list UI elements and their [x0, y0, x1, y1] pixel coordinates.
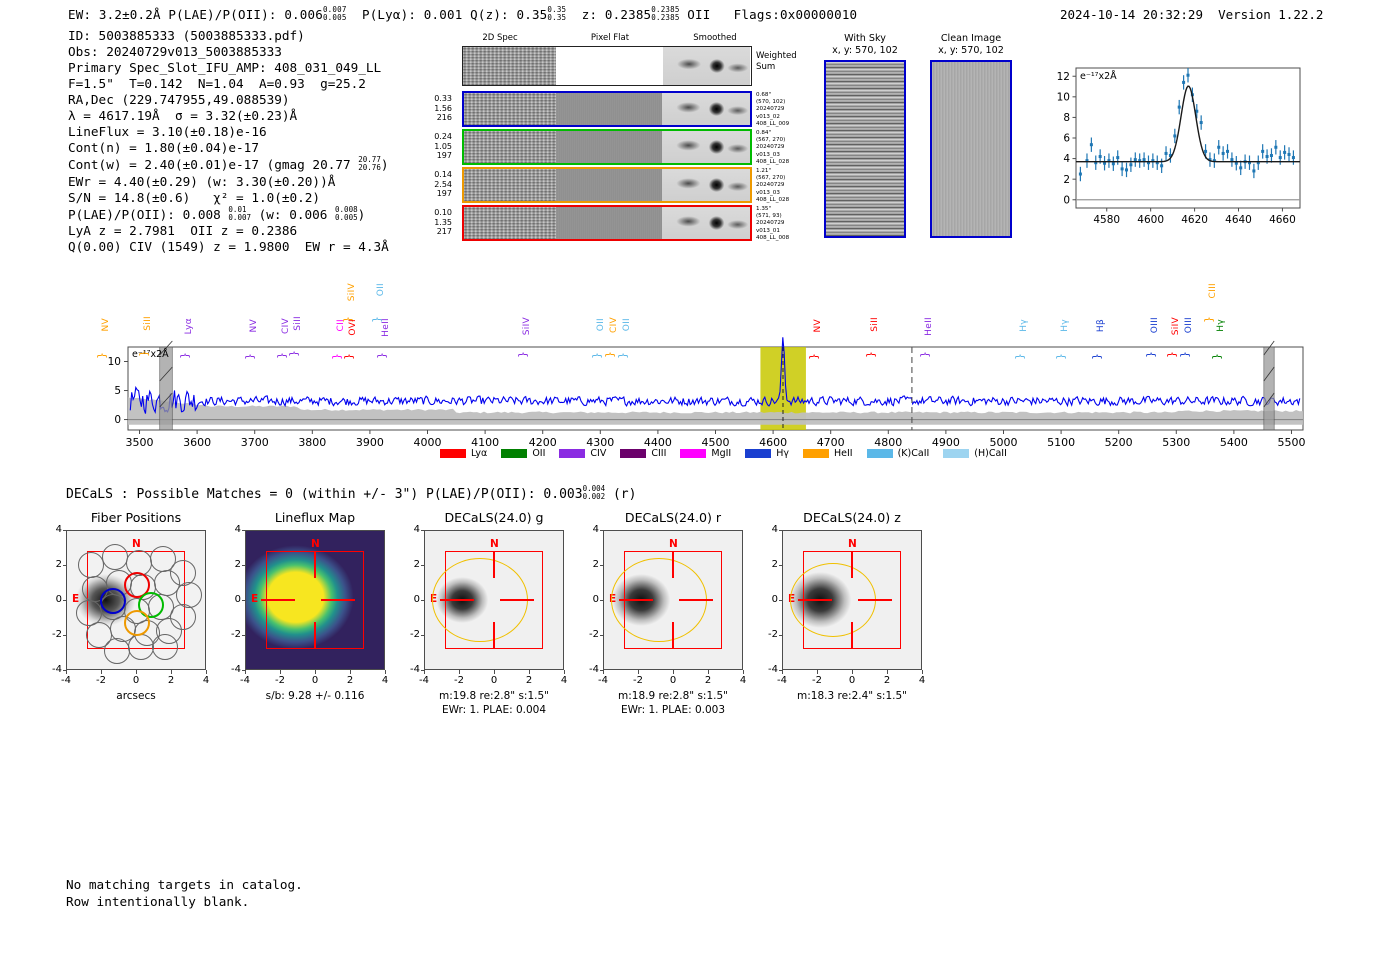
legend-item: CIV — [559, 448, 606, 459]
emission-line-brace: { — [96, 352, 109, 359]
legend-label: (K)CaII — [898, 448, 930, 459]
emission-line-brace: { — [288, 350, 301, 357]
info-cont-w: Cont(w) = 2.40(±0.01)e-17 (gmag 20.77 20… — [68, 156, 389, 173]
y-tick-label: -4 — [219, 664, 241, 675]
emission-line-brace: { — [1179, 351, 1192, 358]
fiber-meta-line: 408_LL_028 — [756, 197, 826, 204]
x-tick — [852, 670, 853, 674]
crosshair — [798, 599, 832, 601]
spec2d-montage: 2D Spec Pixel Flat Smoothed Weighted Sum… — [420, 33, 780, 248]
fiber-values: 0.101.35217 — [410, 208, 452, 237]
y-tick — [242, 600, 246, 601]
fiber-meta: 1.35"(571, 93)20240729v013_01408_LL_008 — [756, 206, 826, 242]
y-tick — [63, 670, 67, 671]
fiber-value: 197 — [410, 189, 452, 199]
fiber-pixelflat — [556, 207, 662, 239]
emission-line-label: CIV — [281, 318, 291, 334]
header-ew-plae: EW: 3.2±0.2Å P(LAE)/P(OII): 0.006 — [68, 7, 323, 22]
svg-text:3700: 3700 — [241, 436, 269, 449]
y-tick — [779, 530, 783, 531]
legend-item: Hγ — [745, 448, 789, 459]
decals-panel-caption-2: EWr: 1. PLAE: 0.004 — [392, 704, 596, 717]
decals-panel-caption: m:18.3 re:2.4" s:1.5" — [750, 690, 954, 703]
fiber-meta-line: v013_01 — [756, 228, 826, 235]
fiber-meta-line: v013_02 — [756, 114, 826, 121]
plae-n-bounds: 0.010.007 — [228, 206, 251, 222]
legend-label: HeII — [834, 448, 853, 459]
x-tick-label: 4 — [373, 675, 397, 686]
fiber-values: 0.331.56216 — [410, 94, 452, 123]
y-tick — [242, 670, 246, 671]
svg-text:5500: 5500 — [1277, 436, 1305, 449]
legend-item: (H)CaII — [943, 448, 1007, 459]
y-tick-label: 2 — [577, 559, 599, 570]
fiber-meta-line: 20240729 — [756, 182, 826, 189]
legend-swatch — [867, 449, 893, 458]
crosshair — [858, 599, 892, 601]
full-spectrum-chart: 0510350036003700380039004000410042004300… — [0, 276, 1400, 471]
x-tick-label: 2 — [338, 675, 362, 686]
info-sn-chi2: S/N = 14.8(±0.6) χ² = 1.0(±0.2) — [68, 190, 389, 206]
legend-label: CIV — [590, 448, 606, 459]
x-tick — [603, 670, 604, 674]
compass-north: N — [848, 538, 857, 550]
svg-text:0: 0 — [114, 414, 121, 426]
crosshair — [672, 622, 674, 648]
svg-text:5100: 5100 — [1047, 436, 1075, 449]
y-tick — [779, 635, 783, 636]
fiber-value: 1.35 — [410, 218, 452, 228]
emission-line-brace: { — [1211, 353, 1224, 360]
strip-2dspec-weighted — [463, 47, 556, 85]
info-cont-n: Cont(n) = 1.80(±0.04)e-17 — [68, 140, 389, 156]
emission-line-brace: { — [1166, 351, 1179, 358]
x-tick-label: -4 — [591, 675, 615, 686]
highlighted-fiber-circle[interactable] — [100, 588, 126, 614]
legend-label: (H)CaII — [974, 448, 1007, 459]
fiber-circle[interactable] — [104, 638, 130, 664]
fiber-value: 1.56 — [410, 104, 452, 114]
emission-line-label: OII — [376, 283, 386, 296]
y-tick — [63, 530, 67, 531]
header-flags: Flags:0x00000010 — [734, 7, 858, 22]
weighted-sum-label: Weighted Sum — [756, 51, 797, 72]
decals-heading: DECaLS : Possible Matches = 0 (within +/… — [66, 485, 636, 502]
svg-text:5: 5 — [114, 385, 121, 397]
emission-line-brace: { — [343, 353, 356, 360]
info-primary-spec: Primary Spec_Slot_IFU_AMP: 408_031_049_L… — [68, 60, 389, 76]
spectrum-legend: LyαOIICIVCIIIMgIIHγHeII(K)CaII(H)CaII — [440, 443, 1021, 462]
fiber-value: 0.33 — [410, 94, 452, 104]
x-tick-label: -4 — [54, 675, 78, 686]
qz-bounds: 0.350.35 — [547, 6, 566, 22]
y-tick — [600, 670, 604, 671]
legend-item: (K)CaII — [867, 448, 930, 459]
y-tick-label: -2 — [40, 629, 62, 640]
fiber-pixelflat — [556, 131, 662, 163]
legend-label: MgII — [711, 448, 731, 459]
y-tick — [63, 635, 67, 636]
thumb-0-coords: x, y: 570, 102 — [832, 45, 898, 56]
legend-item: HeII — [803, 448, 853, 459]
fiber-2dspec — [464, 207, 556, 239]
z-bounds: 0.23850.2385 — [651, 6, 679, 22]
emission-line-brace: { — [1014, 353, 1027, 360]
x-tick-label: -2 — [268, 675, 292, 686]
svg-text:3600: 3600 — [183, 436, 211, 449]
plae-ratio-bounds: 0.0070.005 — [323, 6, 347, 22]
decals-panel-title: Fiber Positions — [44, 510, 228, 525]
info-q-civ: Q(0.00) CIV (1549) z = 1.9800 EW r = 4.3… — [68, 239, 389, 255]
emission-line-brace: { — [1145, 351, 1158, 358]
emission-line-label: Lyα — [184, 318, 194, 334]
legend-swatch — [440, 449, 466, 458]
x-tick — [350, 670, 351, 674]
emission-line-label: OIII — [1150, 317, 1160, 333]
emission-line-brace: { — [138, 350, 151, 357]
fiber-meta-line: 408_LL_028 — [756, 159, 826, 166]
y-tick — [63, 565, 67, 566]
x-tick-label: 0 — [840, 675, 864, 686]
y-tick-label: -2 — [577, 629, 599, 640]
info-obs: Obs: 20240729v013_5003885333 — [68, 44, 389, 60]
decals-panel-title: DECaLS(24.0) r — [581, 510, 765, 525]
svg-text:2: 2 — [1063, 174, 1070, 186]
weighted-sum-strip — [462, 46, 752, 86]
timestamp: 2024-10-14 20:32:29 — [1060, 7, 1203, 22]
fiber-smoothed — [662, 131, 750, 163]
y-tick — [779, 670, 783, 671]
y-tick — [779, 600, 783, 601]
col-title-pixelflat: Pixel Flat — [560, 33, 660, 43]
y-tick-label: 2 — [40, 559, 62, 570]
emission-line-label: NV — [101, 318, 111, 332]
y-tick-label: 0 — [219, 594, 241, 605]
thumb-0-title: With Sky — [844, 33, 886, 44]
thumb-0-caption: With Sky x, y: 570, 102 — [812, 33, 918, 57]
legend-swatch — [559, 449, 585, 458]
col-title-2dspec: 2D Spec — [450, 33, 550, 43]
emission-line-label: Hγ — [1019, 319, 1029, 332]
y-tick — [421, 565, 425, 566]
fiber-value: 1.05 — [410, 142, 452, 152]
emission-line-label: OII — [622, 318, 632, 331]
fiber-meta-line: 408_LL_009 — [756, 121, 826, 128]
emission-line-brace: { — [1091, 353, 1104, 360]
legend-swatch — [680, 449, 706, 458]
x-tick-label: 4 — [731, 675, 755, 686]
legend-swatch — [620, 449, 646, 458]
thumb-1-title: Clean Image — [941, 33, 1001, 44]
x-tick-label: -2 — [626, 675, 650, 686]
x-tick — [101, 670, 102, 674]
gmag-bounds: 20.7720.76 — [358, 156, 381, 172]
y-tick-label: -2 — [398, 629, 420, 640]
fiber-meta-line: v013_03 — [756, 190, 826, 197]
svg-text:4640: 4640 — [1225, 214, 1252, 226]
svg-text:5300: 5300 — [1162, 436, 1190, 449]
decals-heading-text: DECaLS : Possible Matches = 0 (within +/… — [66, 487, 583, 502]
fiber-pixelflat — [556, 169, 662, 201]
info-redshifts: LyA z = 2.7981 OII z = 0.2386 — [68, 223, 389, 239]
fiber-strip — [462, 91, 752, 127]
y-tick-label: 0 — [577, 594, 599, 605]
y-tick-label: -2 — [756, 629, 778, 640]
svg-text:6: 6 — [1063, 133, 1070, 145]
decals-panel-title: DECaLS(24.0) g — [402, 510, 586, 525]
decals-panel-caption: m:19.8 re:2.8" s:1.5" — [392, 690, 596, 703]
svg-text:8: 8 — [1063, 112, 1070, 124]
y-tick-label: 2 — [398, 559, 420, 570]
emission-line-label: SiII — [870, 317, 880, 332]
x-tick-label: -4 — [233, 675, 257, 686]
x-tick — [66, 670, 67, 674]
svg-text:4580: 4580 — [1093, 214, 1120, 226]
info-ewr: EWr = 4.40(±0.29) (w: 3.30(±0.20))Å — [68, 174, 389, 190]
y-tick — [600, 565, 604, 566]
fiber-meta-line: 1.35" — [756, 206, 826, 213]
svg-text:4: 4 — [1063, 153, 1070, 165]
x-tick-label: 0 — [303, 675, 327, 686]
emission-line-label: SiIV — [347, 283, 357, 301]
crosshair — [493, 552, 495, 578]
svg-text:10: 10 — [108, 356, 121, 368]
x-tick — [743, 670, 744, 674]
decals-plae-bounds: 0.0040.002 — [583, 485, 606, 501]
x-tick — [673, 670, 674, 674]
emission-line-brace: { — [517, 351, 530, 358]
legend-label: Hγ — [776, 448, 789, 459]
y-tick-label: 0 — [398, 594, 420, 605]
crosshair — [440, 599, 474, 601]
svg-text:5400: 5400 — [1220, 436, 1248, 449]
info-plae-ratio: P(LAE)/P(OII): 0.008 0.010.007 (w: 0.006… — [68, 206, 389, 223]
legend-swatch — [745, 449, 771, 458]
decals-panel-caption-2: EWr: 1. PLAE: 0.003 — [571, 704, 775, 717]
x-tick-label: -2 — [89, 675, 113, 686]
strip-pixelflat-weighted — [556, 47, 663, 85]
fiber-circle[interactable] — [78, 552, 104, 578]
y-tick — [242, 565, 246, 566]
legend-item: CIII — [620, 448, 666, 459]
legend-swatch — [501, 449, 527, 458]
y-tick — [600, 635, 604, 636]
decals-heading-suffix: (r) — [613, 487, 636, 502]
compass-north: N — [669, 538, 678, 550]
x-tick-label: 4 — [194, 675, 218, 686]
highlighted-fiber-circle[interactable] — [124, 610, 150, 636]
emission-line-brace: { — [1055, 353, 1068, 360]
fiber-meta-line: 20240729 — [756, 220, 826, 227]
y-tick-label: 4 — [398, 524, 420, 535]
fiber-value: 0.14 — [410, 170, 452, 180]
legend-label: OII — [532, 448, 545, 459]
fiber-meta-line: 408_LL_008 — [756, 235, 826, 242]
crosshair — [851, 622, 853, 648]
footer-note: No matching targets in catalog. Row inte… — [66, 876, 303, 910]
fiber-meta-line: (567, 270) — [756, 175, 826, 182]
x-tick-label: 0 — [482, 675, 506, 686]
legend-item: OII — [501, 448, 545, 459]
emission-line-label: HeII — [381, 318, 391, 337]
emission-line-label: NV — [249, 319, 259, 333]
y-tick-label: 4 — [577, 524, 599, 535]
line-fit-chart: 02468101245804600462046404660e⁻¹⁷x2Å — [1042, 60, 1304, 220]
y-tick — [242, 530, 246, 531]
svg-text:4620: 4620 — [1181, 214, 1208, 226]
strip-smoothed-weighted — [663, 47, 750, 85]
svg-text:10: 10 — [1057, 91, 1070, 103]
fiber-value: 197 — [410, 151, 452, 161]
x-tick — [494, 670, 495, 674]
crosshair — [679, 599, 713, 601]
emission-line-label: OIII — [1184, 317, 1194, 333]
fiber-pixelflat — [556, 93, 662, 125]
x-tick — [385, 670, 386, 674]
fiber-strip — [462, 205, 752, 241]
decals-panel-title: Lineflux Map — [223, 510, 407, 525]
emission-line-brace: { — [865, 351, 878, 358]
x-tick — [245, 670, 246, 674]
legend-label: CIII — [651, 448, 666, 459]
svg-text:e⁻¹⁷x2Å: e⁻¹⁷x2Å — [1080, 70, 1117, 82]
emission-line-label: SiIV — [1171, 317, 1181, 335]
fiber-meta-line: (570, 102) — [756, 99, 826, 106]
compass-east: E — [72, 593, 79, 605]
x-tick-label: 2 — [696, 675, 720, 686]
crosshair — [619, 599, 653, 601]
x-tick — [315, 670, 316, 674]
fiber-meta-line: (571, 93) — [756, 213, 826, 220]
crosshair — [321, 599, 355, 601]
decals-panel-caption: s/b: 9.28 +/- 0.116 — [213, 690, 417, 703]
fiber-meta-line: 1.21" — [756, 168, 826, 175]
y-tick — [600, 530, 604, 531]
source-info-block: ID: 5003885333 (5003885333.pdf) Obs: 202… — [68, 28, 389, 255]
x-tick — [136, 670, 137, 674]
x-tick-label: 4 — [910, 675, 934, 686]
svg-text:4660: 4660 — [1269, 214, 1296, 226]
emission-line-brace: { — [808, 353, 821, 360]
info-id: ID: 5003885333 (5003885333.pdf) — [68, 28, 389, 44]
fiber-meta: 0.84"(567, 270)20240729v013_03408_LL_028 — [756, 130, 826, 166]
x-tick — [708, 670, 709, 674]
crosshair — [314, 552, 316, 578]
decals-panel-title: DECaLS(24.0) z — [760, 510, 944, 525]
svg-text:4600: 4600 — [1137, 214, 1164, 226]
emission-line-label: CIV — [609, 317, 619, 333]
x-tick — [424, 670, 425, 674]
y-tick-label: -2 — [219, 629, 241, 640]
info-seeing: F=1.5" T=0.142 N=1.04 A=0.93 g=25.2 — [68, 76, 389, 92]
crosshair — [261, 599, 295, 601]
fiber-circle[interactable] — [128, 634, 154, 660]
svg-text:3800: 3800 — [298, 436, 326, 449]
with-sky-image — [824, 60, 906, 238]
fiber-strip — [462, 167, 752, 203]
fiber-circle[interactable] — [152, 634, 178, 660]
svg-text:5200: 5200 — [1105, 436, 1133, 449]
crosshair — [314, 622, 316, 648]
fiber-value: 217 — [410, 227, 452, 237]
svg-text:3500: 3500 — [126, 436, 154, 449]
fiber-2dspec — [464, 131, 556, 163]
x-tick-label: -2 — [447, 675, 471, 686]
emission-line-label: Hγ — [1060, 319, 1070, 332]
emission-line-brace: { — [604, 351, 617, 358]
legend-item: Lyα — [440, 448, 487, 459]
fiber-2dspec — [464, 93, 556, 125]
fiber-smoothed — [662, 207, 750, 239]
fiber-circle[interactable] — [102, 544, 128, 570]
info-lineflux: LineFlux = 3.10(±0.18)e-16 — [68, 124, 389, 140]
info-radec: RA,Dec (229.747955,49.088539) — [68, 92, 389, 108]
emission-line-brace: { — [376, 352, 389, 359]
emission-line-label: SiII — [143, 316, 153, 331]
fiber-meta-line: (567, 270) — [756, 137, 826, 144]
header-plya-qz: P(Lyα): 0.001 Q(z): 0.35 — [362, 7, 547, 22]
y-tick-label: 2 — [219, 559, 241, 570]
decals-panel-caption: m:18.9 re:2.8" s:1.5" — [571, 690, 775, 703]
col-title-smoothed: Smoothed — [665, 33, 765, 43]
version-label: Version 1.22.2 — [1218, 7, 1323, 22]
legend-label: Lyα — [471, 448, 487, 459]
x-tick — [459, 670, 460, 674]
fiber-value: 0.10 — [410, 208, 452, 218]
emission-line-brace: { — [244, 353, 257, 360]
y-tick-label: 4 — [219, 524, 241, 535]
x-tick-label: 2 — [517, 675, 541, 686]
x-tick — [638, 670, 639, 674]
y-tick-label: -4 — [577, 664, 599, 675]
fiber-meta-line: 20240729 — [756, 144, 826, 151]
header-summary-line: EW: 3.2±0.2Å P(LAE)/P(OII): 0.0060.0070.… — [68, 6, 857, 22]
crosshair — [851, 552, 853, 578]
fiber-value: 0.24 — [410, 132, 452, 142]
x-tick — [171, 670, 172, 674]
fiber-values: 0.241.05197 — [410, 132, 452, 161]
emission-line-label: CIII — [1208, 283, 1218, 298]
y-tick — [421, 635, 425, 636]
x-tick — [206, 670, 207, 674]
svg-text:4000: 4000 — [414, 436, 442, 449]
fiber-values: 0.142.54197 — [410, 170, 452, 199]
emission-line-label: OII — [596, 318, 606, 331]
y-tick — [421, 530, 425, 531]
fiber-smoothed — [662, 169, 750, 201]
y-tick — [63, 600, 67, 601]
legend-swatch — [943, 449, 969, 458]
header-z: z: 0.2385 — [582, 7, 652, 22]
legend-swatch — [803, 449, 829, 458]
fiber-value: 2.54 — [410, 180, 452, 190]
legend-item: MgII — [680, 448, 731, 459]
x-tick-label: 0 — [661, 675, 685, 686]
emission-line-label: OVI — [348, 319, 358, 336]
y-tick-label: -4 — [398, 664, 420, 675]
svg-text:12: 12 — [1057, 71, 1070, 83]
compass-north: N — [490, 538, 499, 550]
x-tick — [782, 670, 783, 674]
compass-north: N — [132, 538, 141, 550]
y-tick — [779, 565, 783, 566]
fiber-value: 216 — [410, 113, 452, 123]
emission-line-brace: { — [179, 352, 192, 359]
x-tick-label: -4 — [412, 675, 436, 686]
x-tick — [922, 670, 923, 674]
fiber-strip — [462, 129, 752, 165]
fiber-meta-line: 0.84" — [756, 130, 826, 137]
